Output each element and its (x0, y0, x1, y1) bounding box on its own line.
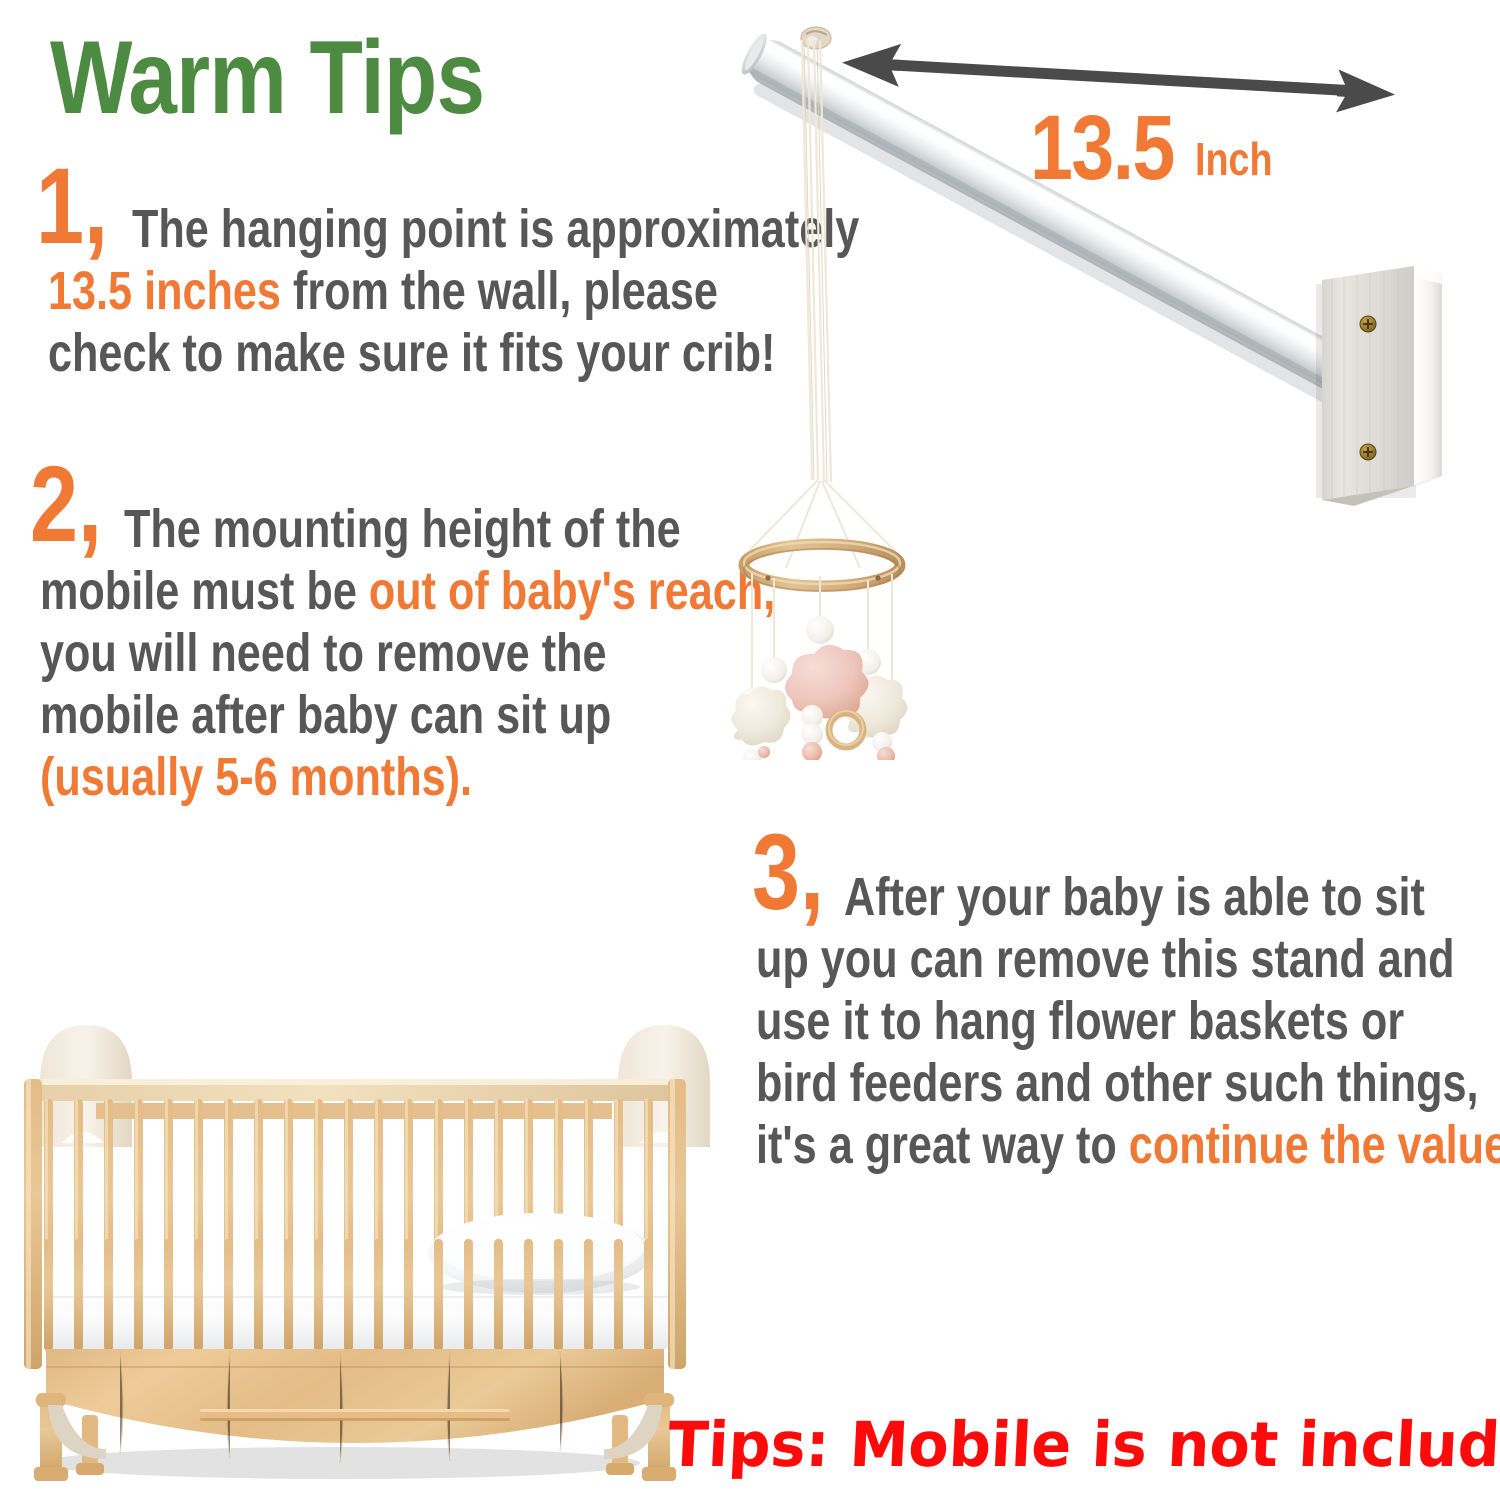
tip-3-line-5: it's a great way to (756, 1115, 1129, 1175)
measurement-value: 13.5 (1030, 96, 1174, 201)
tip-3-line-4: bird feeders and other such things, (756, 1053, 1479, 1113)
tip-1-highlight-inches: 13.5 inches (48, 261, 281, 321)
tip-3-line-2: up you can remove this stand and (756, 929, 1455, 989)
baby-crib-illustration (0, 995, 710, 1495)
tip-3-body: After your baby is able to sit up you ca… (756, 866, 1496, 1176)
crib-front-panel (46, 1349, 664, 1463)
tip-2-line-4: mobile after baby can sit up (40, 685, 611, 745)
mobile-not-included-note: Tips: Mobile is not included (666, 1408, 1500, 1481)
page-title: Warm Tips (50, 26, 484, 130)
screw-top (1360, 316, 1376, 332)
tip-3-line-1: After your baby is able to sit (844, 867, 1425, 927)
screw-bottom (1360, 444, 1376, 460)
warm-tips-infographic: Warm Tips 1, The hanging point is approx… (0, 0, 1500, 1500)
mobile-dangle-left (731, 573, 790, 760)
tip-1-line-2: from the wall, please (281, 261, 718, 321)
wall-bracket-illustration (1310, 262, 1470, 507)
baby-mobile-illustration (700, 40, 960, 760)
tip-2-line-3: you will need to remove the (40, 623, 607, 683)
tip-3-highlight-value: continue the value. (1129, 1115, 1500, 1175)
measurement-unit: Inch (1195, 132, 1273, 186)
wooden-hoop (744, 542, 900, 591)
tip-2-line-1: The mounting height of the (124, 499, 681, 559)
tip-3-line-3: use it to hang flower baskets or (756, 991, 1404, 1051)
mobile-dangle-center (785, 576, 869, 760)
tip-2-line-2: mobile must be (40, 561, 369, 621)
measurement-label: 13.5Inch (1030, 96, 1290, 201)
tip-2-highlight-months: (usually 5-6 months). (40, 747, 472, 807)
tip-1-line-3: check to make sure it fits your crib! (48, 323, 775, 383)
